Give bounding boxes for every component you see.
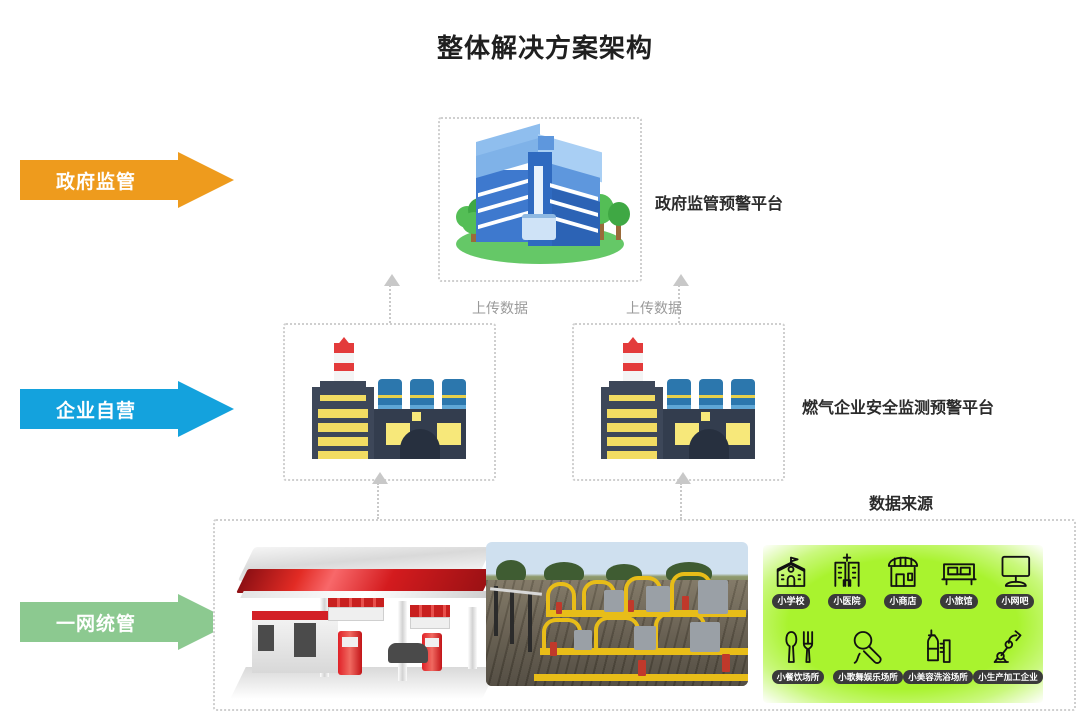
toiletries-icon	[918, 627, 958, 667]
venue-item-beauty-bath[interactable]: 小美容洗浴场所	[904, 627, 972, 684]
venue-label-hotel: 小旅馆	[940, 594, 977, 609]
venue-label-internet-cafe: 小网吧	[996, 594, 1033, 609]
data-source-label: 数据来源	[869, 490, 933, 514]
source-arrow-left	[377, 483, 379, 519]
computer-monitor-icon	[995, 551, 1035, 591]
band-label-government: 政府监管	[56, 167, 136, 194]
enterprise-platform-label: 燃气企业安全监测预警平台	[802, 394, 994, 418]
arrow-head	[178, 381, 234, 437]
hospital-icon	[827, 551, 867, 591]
hotel-bed-icon	[939, 551, 979, 591]
band-arrow-government: 政府监管	[20, 152, 136, 208]
band-arrow-network: 一网统管	[20, 594, 136, 650]
venue-item-internet-cafe[interactable]: 小网吧	[988, 551, 1042, 609]
venue-label-restaurant: 小餐饮场所	[772, 670, 825, 684]
factory-icon-right	[589, 337, 767, 459]
band-label-network: 一网统管	[56, 609, 136, 636]
upload-label-left: 上传数据	[472, 298, 528, 318]
venue-icon-row-1: 小学校 小医院	[763, 551, 1043, 609]
shop-icon	[883, 551, 923, 591]
government-platform-label: 政府监管预警平台	[655, 190, 783, 214]
government-building-icon	[450, 128, 630, 273]
source-arrow-right	[680, 483, 682, 519]
venue-item-hotel[interactable]: 小旅馆	[932, 551, 986, 609]
venue-label-beauty-bath: 小美容洗浴场所	[903, 670, 973, 684]
venue-item-restaurant[interactable]: 小餐饮场所	[764, 627, 832, 684]
gas-station-image	[232, 545, 494, 705]
band-label-enterprise: 企业自营	[56, 396, 136, 423]
venue-item-hospital[interactable]: 小医院	[820, 551, 874, 609]
upload-label-right: 上传数据	[626, 298, 682, 318]
venue-item-shop[interactable]: 小商店	[876, 551, 930, 609]
venue-item-school[interactable]: 小学校	[764, 551, 818, 609]
school-icon	[771, 551, 811, 591]
microphone-icon	[848, 627, 888, 667]
upload-arrow-left	[389, 285, 391, 323]
band-arrow-enterprise: 企业自营	[20, 381, 136, 437]
factory-icon-left	[300, 337, 478, 459]
arrow-head	[178, 152, 234, 208]
venue-label-entertainment: 小歌舞娱乐场所	[833, 670, 903, 684]
venue-label-manufacturing: 小生产加工企业	[973, 670, 1043, 684]
diagram-canvas: 整体解决方案架构 政府监管 企业自营 一网统管	[0, 0, 1090, 718]
page-title: 整体解决方案架构	[0, 28, 1090, 65]
gas-pipeline-image	[486, 542, 748, 686]
venue-label-shop: 小商店	[884, 594, 921, 609]
venue-item-manufacturing[interactable]: 小生产加工企业	[974, 627, 1042, 684]
fork-spoon-icon	[778, 627, 818, 667]
venue-icon-panel: 小学校 小医院	[763, 545, 1043, 703]
venue-icon-row-2: 小餐饮场所 小歌舞娱乐场所	[763, 627, 1043, 684]
venue-label-hospital: 小医院	[828, 594, 865, 609]
robot-arm-icon	[988, 627, 1028, 667]
venue-item-entertainment[interactable]: 小歌舞娱乐场所	[834, 627, 902, 684]
venue-label-school: 小学校	[772, 594, 809, 609]
